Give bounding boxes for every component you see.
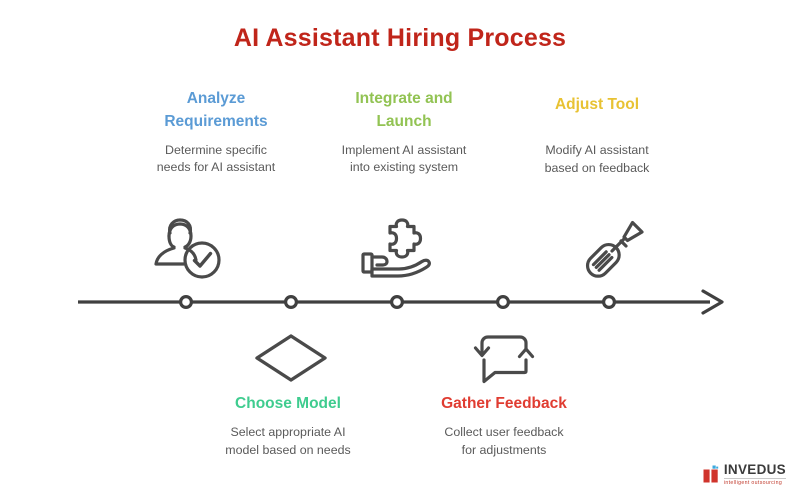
step-1-description-line1: Determine specific	[165, 143, 267, 157]
timeline-arrowhead	[703, 291, 722, 313]
step-1-description: Determine specific needs for AI assistan…	[116, 142, 316, 177]
step-3-description-line1: Implement AI assistant	[342, 143, 467, 157]
timeline-node-2[interactable]	[286, 297, 297, 308]
screwdriver-icon	[577, 214, 649, 282]
step-5-icon-box	[570, 212, 656, 284]
step-2-description-line1: Select appropriate AI	[230, 425, 345, 439]
infographic-canvas: AI Assistant Hiring Process Analyze Requ…	[0, 0, 800, 500]
step-1-description-line2: needs for AI assistant	[157, 160, 275, 174]
diamond-icon	[251, 330, 331, 386]
step-5-description-line1: Modify AI assistant	[545, 143, 648, 157]
feedback-loop-icon	[468, 328, 542, 388]
invedus-logo[interactable]: INVEDUS intelligent outsourcing	[703, 463, 786, 486]
step-4-heading-line1: Gather Feedback	[441, 395, 567, 412]
step-4-description-line2: for adjustments	[462, 443, 547, 457]
step-4-icon-box	[462, 322, 548, 394]
hand-puzzle-icon	[358, 216, 438, 280]
step-5-description: Modify AI assistant based on feedback	[497, 142, 697, 177]
step-2-heading-line1: Choose Model	[235, 395, 341, 412]
step-3-description-line2: into existing system	[350, 160, 458, 174]
step-2-description: Select appropriate AI model based on nee…	[188, 424, 388, 459]
step-1-heading: Analyze Requirements	[116, 88, 316, 134]
step-analyze-requirements[interactable]: Analyze Requirements Determine specific …	[116, 88, 316, 177]
invedus-logo-name: INVEDUS	[724, 463, 786, 477]
timeline-node-5[interactable]	[604, 297, 615, 308]
page-title: AI Assistant Hiring Process	[0, 24, 800, 53]
step-2-heading: Choose Model	[188, 393, 388, 416]
step-3-heading-line1: Integrate and	[355, 90, 452, 107]
timeline-node-1[interactable]	[181, 297, 192, 308]
timeline-node-4[interactable]	[498, 297, 509, 308]
step-4-description-line1: Collect user feedback	[444, 425, 563, 439]
step-gather-feedback[interactable]: Gather Feedback Collect user feedback fo…	[404, 393, 604, 459]
step-3-description: Implement AI assistant into existing sys…	[304, 142, 504, 177]
step-4-heading: Gather Feedback	[404, 393, 604, 416]
invedus-logo-tagline: intelligent outsourcing	[724, 478, 786, 486]
step-5-heading: Adjust Tool	[497, 94, 697, 117]
step-2-description-line2: model based on needs	[225, 443, 350, 457]
step-2-icon-box	[248, 322, 334, 394]
invedus-logo-mark-icon	[703, 465, 720, 484]
step-1-icon-box	[143, 212, 229, 284]
step-choose-model[interactable]: Choose Model Select appropriate AI model…	[188, 393, 388, 459]
timeline-node-3[interactable]	[392, 297, 403, 308]
step-adjust-tool[interactable]: Adjust Tool Modify AI assistant based on…	[497, 94, 697, 177]
step-4-description: Collect user feedback for adjustments	[404, 424, 604, 459]
step-5-description-line2: based on feedback	[545, 161, 650, 175]
step-3-icon-box	[355, 212, 441, 284]
step-1-heading-line1: Analyze	[187, 90, 246, 107]
step-1-heading-line2: Requirements	[164, 113, 267, 130]
step-3-heading: Integrate and Launch	[304, 88, 504, 134]
user-check-icon	[147, 216, 225, 280]
step-5-heading-line1: Adjust Tool	[555, 96, 639, 113]
invedus-logo-text: INVEDUS intelligent outsourcing	[724, 463, 786, 486]
step-3-heading-line2: Launch	[376, 113, 431, 130]
step-integrate-and-launch[interactable]: Integrate and Launch Implement AI assist…	[304, 88, 504, 177]
